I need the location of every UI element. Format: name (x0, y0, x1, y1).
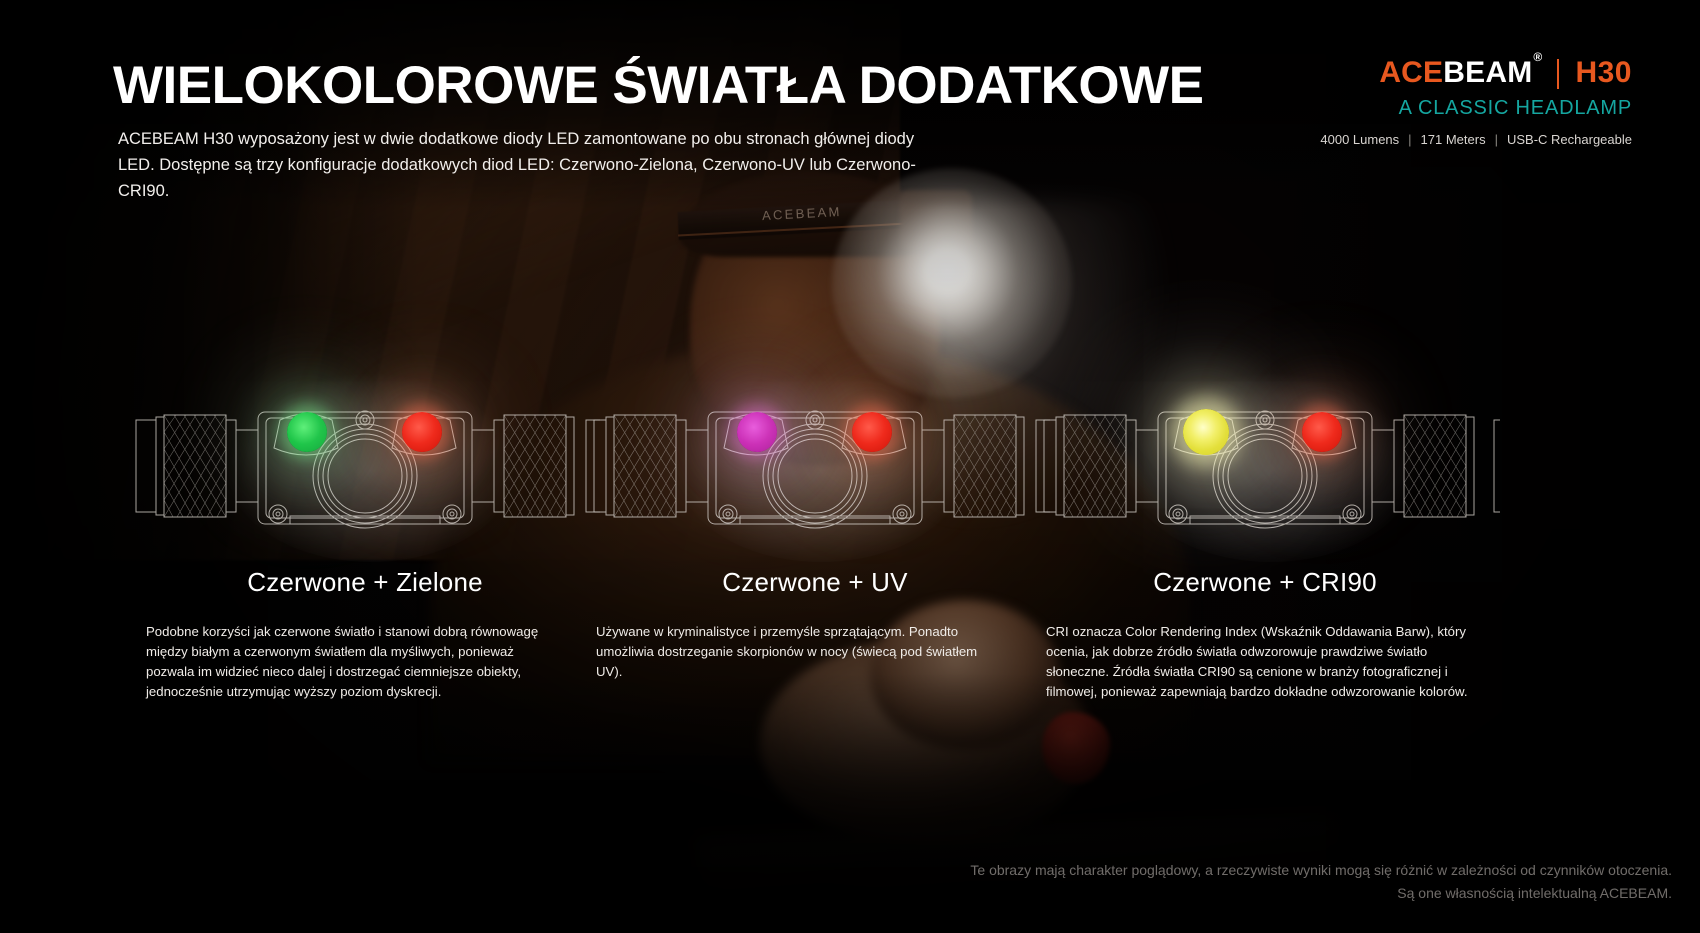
led-green (287, 412, 327, 452)
led-red (1302, 412, 1342, 452)
variant-red-cri90: Czerwone + CRI90 CRI oznacza Color Rende… (1030, 390, 1500, 702)
marketing-banner: ACEBEAM WIELOKOLOROWE ŚWIATŁA DODATKOWE … (0, 0, 1700, 933)
headlamp-line-drawing (580, 390, 1050, 545)
headlamp-wireframe-red-uv (580, 390, 1050, 545)
variant-title-red-cri90: Czerwone + CRI90 (1030, 567, 1500, 598)
variant-red-uv: Czerwone + UV Używane w kryminalistyce i… (580, 390, 1050, 682)
variant-title-red-green: Czerwone + Zielone (130, 567, 600, 598)
headlamp-line-drawing (130, 390, 600, 545)
variant-red-green: Czerwone + Zielone Podobne korzyści jak … (130, 390, 600, 702)
headlamp-line-drawing (1030, 390, 1500, 545)
disclaimer-line-1: Te obrazy mają charakter poglądowy, a rz… (552, 859, 1672, 882)
product-variant-columns: Czerwone + Zielone Podobne korzyści jak … (0, 0, 1700, 933)
variant-title-red-uv: Czerwone + UV (580, 567, 1050, 598)
led-uv (737, 412, 777, 452)
disclaimer-line-2: Są one własnością intelektualną ACEBEAM. (552, 882, 1672, 905)
variant-description-red-cri90: CRI oznacza Color Rendering Index (Wskaź… (1046, 622, 1476, 702)
headlamp-wireframe-red-green (130, 390, 600, 545)
variant-description-red-uv: Używane w kryminalistyce i przemyśle spr… (596, 622, 1006, 682)
led-cri90 (1183, 409, 1229, 455)
led-red (402, 412, 442, 452)
variant-description-red-green: Podobne korzyści jak czerwone światło i … (146, 622, 546, 702)
led-red (852, 412, 892, 452)
headlamp-wireframe-red-cri90 (1030, 390, 1500, 545)
disclaimer: Te obrazy mają charakter poglądowy, a rz… (552, 859, 1672, 905)
